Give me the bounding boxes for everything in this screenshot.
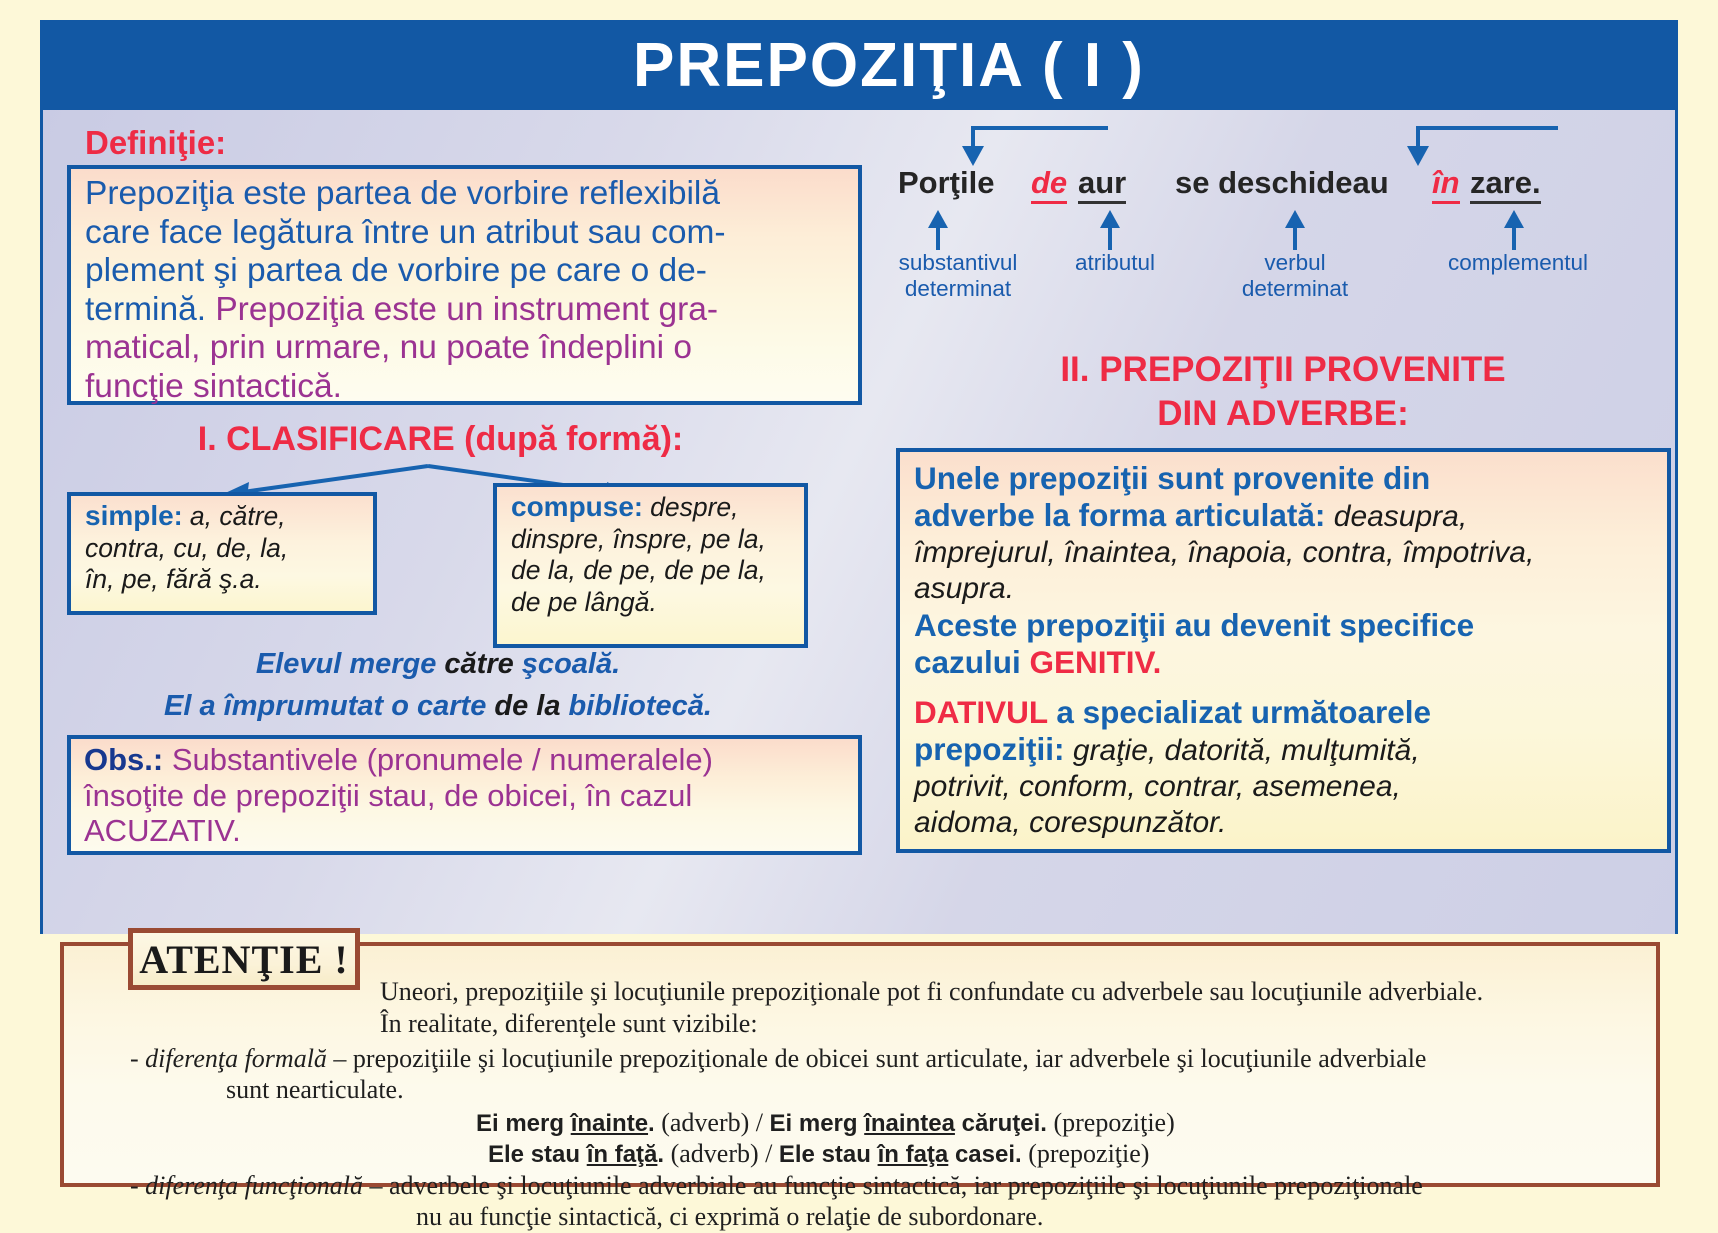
attention-line-6: nu au funcţie sintactică, ci exprimă o r… (416, 1201, 1043, 1233)
definition-line-4-blue: termină. (85, 291, 215, 328)
attention-dash-2: - (130, 1171, 145, 1200)
sentence-word-se-deschideau: se deschideau (1175, 165, 1389, 201)
page-title: PREPOZIŢIA ( I ) (633, 30, 1145, 101)
sentence-word-de: de (1031, 165, 1067, 204)
label-substantivul: substantivul (873, 250, 1043, 276)
r-p3-rest: a specializat următoarele (1048, 694, 1431, 730)
r-p1-line-2-italic: deasupra, (1325, 500, 1467, 533)
compuse-items-1: despre, (643, 492, 739, 522)
compuse-key: compuse (511, 491, 634, 522)
simple-key: simple (85, 500, 174, 531)
observation-line-3: ACUZATIV. (84, 813, 858, 849)
classification-heading: I. CLASIFICARE (după formă): (43, 420, 838, 459)
compuse-colon: : (634, 492, 643, 522)
definition-line-4: termină. Prepoziţia este un instrument g… (85, 291, 846, 330)
section-2-heading-line-1: II. PREPOZIŢII PROVENITE (883, 348, 1683, 392)
attention-line-2: În realitate, diferenţele sunt vizibile: (380, 1008, 758, 1040)
attention-example-1: Ei merg înainte. (adverb) / Ei merg înai… (476, 1107, 1175, 1140)
sentence-word-aur: aur (1078, 165, 1126, 204)
compound-prepositions-box: compuse: despre, dinspre, înspre, pe la,… (493, 483, 808, 648)
attention-term-functionala: diferenţa funcţională (145, 1171, 363, 1200)
r-p2-line-1: Aceste prepoziţii au devenit specifice (914, 607, 1657, 644)
ex2-paren-2: (prepoziţie) (1022, 1139, 1150, 1168)
definition-line-3: plement şi partea de vorbire pe care o d… (85, 252, 846, 291)
poster-body: Definiţie: Prepoziţia este partea de vor… (40, 110, 1678, 934)
compuse-line-3: de la, de pe, de pe la, (511, 555, 804, 587)
simple-colon: : (174, 501, 183, 531)
label-determinat-2: determinat (1215, 276, 1375, 302)
definition-line-6: funcţie sintactică. (85, 368, 846, 407)
label-atributul: atributul (1035, 250, 1195, 276)
attention-tag-label: ATENŢIE ! (139, 936, 348, 983)
r-p1-line-4: asupra. (914, 571, 1657, 607)
sentence-word-portile: Porţile (898, 165, 994, 201)
example-sentence-1: Elevul merge către şcoală. (43, 648, 833, 681)
attention-line-3: - diferenţa formală – prepoziţiile şi lo… (130, 1043, 1426, 1075)
definition-box: Prepoziţia este partea de vorbire reflex… (67, 165, 862, 405)
observation-line-1: Obs.: Substantivele (pronumele / numeral… (84, 742, 858, 778)
sentence-word-zare: zare. (1470, 165, 1541, 204)
ex1-separator: / (749, 1108, 769, 1137)
r-p3-line-2: prepoziţii: graţie, datorită, mulţumită, (914, 731, 1657, 769)
r-p2-genitiv: GENITIV. (1030, 644, 1162, 680)
ex1-a: Ei merg (476, 1110, 571, 1137)
ex2-underlined-2: în faţa (878, 1141, 949, 1168)
sentence-bottom-arrows-icon (898, 208, 1658, 250)
r-p3-line-4: aidoma, corespunzător. (914, 805, 1657, 841)
example-2-part-c: bibliotecă. (560, 690, 711, 722)
simple-prepositions-box: simple: a, către, contra, cu, de, la, în… (67, 492, 377, 615)
ex2-c: Ele stau (779, 1141, 878, 1168)
ex2-underlined: în faţă (587, 1141, 658, 1168)
attention-line-4: sunt nearticulate. (226, 1074, 404, 1106)
definition-line-5: matical, prin urmare, nu poate îndeplini… (85, 329, 846, 368)
observation-label: Obs.: (84, 742, 163, 777)
attention-line-5: - diferenţa funcţională – adverbele şi l… (130, 1170, 1423, 1202)
label-determinat-1: determinat (873, 276, 1043, 302)
label-verb-determinat: verbul determinat (1215, 250, 1375, 302)
r-p3-list-1: graţie, datorită, mulţumită, (1065, 734, 1420, 767)
section-2-heading: II. PREPOZIŢII PROVENITE DIN ADVERBE: (883, 348, 1683, 436)
ex2-paren: (adverb) (664, 1139, 759, 1168)
sentence-top-arrows-icon (898, 122, 1658, 170)
attention-example-2: Ele stau în faţă. (adverb) / Ele stau în… (488, 1138, 1149, 1171)
example-sentence-2: El a împrumutat o carte de la bibliotecă… (43, 690, 833, 723)
r-p1-line-2: adverbe la forma articulată: deasupra, (914, 497, 1657, 535)
ex2-separator: / (759, 1139, 779, 1168)
label-substantiv-determinat: substantivul determinat (873, 250, 1043, 302)
attention-dash-1: - (130, 1044, 145, 1073)
ex1-underlined-2: înaintea (864, 1110, 955, 1137)
attention-line-1: Uneori, prepoziţiile şi locuţiunile prep… (380, 976, 1483, 1008)
r-p3-line-3: potrivit, conform, contrar, asemenea, (914, 769, 1657, 805)
ex2-a: Ele stau (488, 1141, 587, 1168)
adverb-derived-prepositions-box: Unele prepoziţii sunt provenite din adve… (896, 448, 1671, 853)
observation-box: Obs.: Substantivele (pronumele / numeral… (67, 735, 862, 855)
simple-items-1: a, către, (183, 501, 286, 531)
attention-box: ATENŢIE ! Uneori, prepoziţiile şi locuţi… (60, 942, 1660, 1187)
attention-line-3-rest: – prepoziţiile şi locuţiunile prepoziţio… (327, 1044, 1427, 1073)
ex1-paren-2: (prepoziţie) (1047, 1108, 1175, 1137)
observation-text-1: Substantivele (pronumele / numeralele) (163, 742, 713, 777)
r-p3-dativul: DATIVUL (914, 694, 1048, 730)
attention-line-5-rest: – adverbele şi locuţiunile adverbiale au… (363, 1171, 1423, 1200)
poster-title-bar: PREPOZIŢIA ( I ) (40, 20, 1678, 110)
definition-line-4-magenta: Prepoziţia este un instrument gra- (215, 291, 718, 328)
ex1-underlined: înainte (571, 1110, 648, 1137)
simple-line-3: în, pe, fără ş.a. (85, 564, 373, 596)
r-p1-line-1: Unele prepoziţii sunt provenite din (914, 460, 1657, 497)
r-p3-line-1: DATIVUL a specializat următoarele (914, 694, 1657, 731)
ex1-e: . (1040, 1110, 1047, 1137)
example-2-part-a: El a împrumutat o carte (164, 690, 494, 722)
attention-tag: ATENŢIE ! (128, 928, 360, 990)
section-2-heading-line-2: DIN ADVERBE: (883, 392, 1683, 436)
ex1-d: căruţei (955, 1110, 1040, 1137)
example-1-part-c: şcoală. (514, 648, 620, 680)
observation-line-2: însoţite de prepoziţii stau, de obicei, … (84, 778, 858, 814)
analyzed-sentence: Porţile de aur se deschideau în zare. (898, 165, 1668, 205)
simple-line-2: contra, cu, de, la, (85, 533, 373, 565)
label-verbul: verbul (1215, 250, 1375, 276)
attention-term-formala: diferenţa formală (145, 1044, 327, 1073)
ex1-b: . (648, 1110, 655, 1137)
definition-line-2: care face legătura între un atribut sau … (85, 214, 846, 253)
r-p3-prepozitii: prepoziţii: (914, 731, 1065, 767)
ex1-c: Ei merg (770, 1110, 865, 1137)
compuse-line-2: dinspre, înspre, pe la, (511, 524, 804, 556)
r-p2-line-2: cazului GENITIV. (914, 644, 1657, 681)
ex1-paren: (adverb) (655, 1108, 750, 1137)
example-2-preposition: de la (494, 690, 560, 722)
definition-label: Definiţie: (85, 124, 226, 162)
example-1-preposition: către (444, 648, 513, 680)
label-complementul: complementul (1418, 250, 1618, 276)
compuse-line-1: compuse: despre, (511, 491, 804, 524)
poster-root: PREPOZIŢIA ( I ) Definiţie: Prepoziţia e… (20, 14, 1698, 1206)
definition-line-1: Prepoziţia este partea de vorbire reflex… (85, 175, 846, 214)
r-p2-cazului: cazului (914, 644, 1030, 680)
ex2-e: . (1015, 1141, 1022, 1168)
simple-line-1: simple: a, către, (85, 500, 373, 533)
sentence-word-in: în (1432, 165, 1460, 204)
compuse-line-4: de pe lângă. (511, 587, 804, 619)
r-p1-line-2-blue: adverbe la forma articulată: (914, 497, 1325, 533)
r-p1-line-3: împrejurul, înaintea, înapoia, contra, î… (914, 535, 1657, 571)
ex2-d: casei (948, 1141, 1015, 1168)
example-1-part-a: Elevul merge (256, 648, 445, 680)
